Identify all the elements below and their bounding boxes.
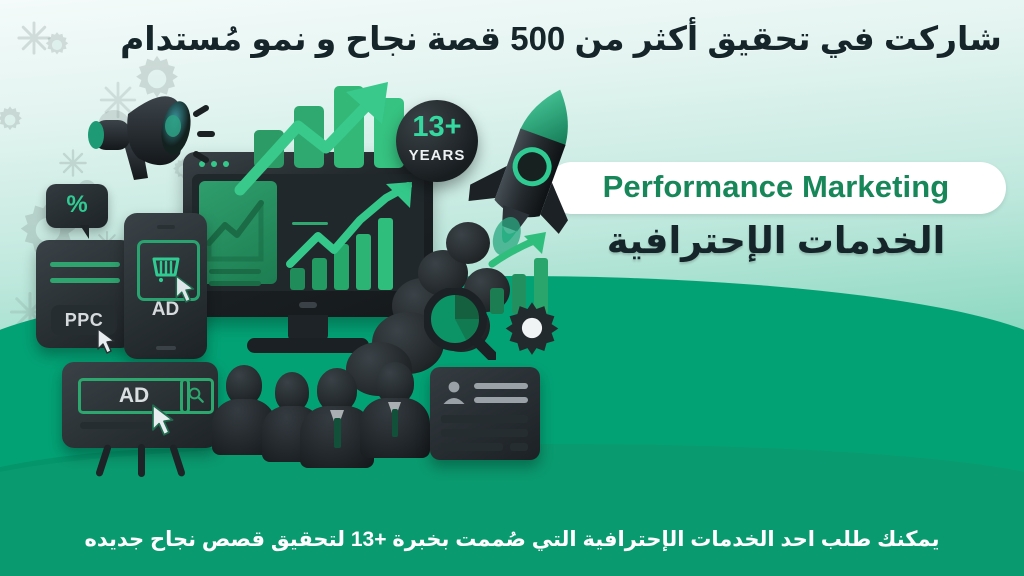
cursor-pointer-icon <box>174 275 198 303</box>
ppc-line <box>50 262 120 267</box>
arabic-subtitle: الخدمات الإحترافية <box>546 220 1006 263</box>
smoke-puff <box>446 222 490 264</box>
card-line <box>510 443 528 451</box>
megaphone-icon <box>88 82 220 194</box>
decorative-star-icon <box>16 20 52 56</box>
ppc-card[interactable]: PPC <box>36 240 134 348</box>
easel-leg <box>138 444 145 477</box>
performance-marketing-pill: Performance Marketing <box>546 162 1006 214</box>
card-line <box>441 415 528 423</box>
easel-leg <box>169 444 186 478</box>
avatar-icon <box>441 379 467 405</box>
years-badge: 13+ YEARS <box>396 100 478 182</box>
search-box <box>180 378 214 414</box>
monitor-stand-base <box>247 338 369 353</box>
marketing-banner: شاركت في تحقيق أكثر من 500 قصة نجاح و نم… <box>0 0 1024 576</box>
right-text-block: Performance Marketing الخدمات الإحترافية <box>546 162 1006 263</box>
board-panel: AD <box>62 362 218 448</box>
card-line <box>441 443 503 451</box>
easel-leg <box>95 444 112 478</box>
page-title: شاركت في تحقيق أكثر من 500 قصة نجاح و نم… <box>120 18 1002 59</box>
cursor-pointer-icon <box>96 328 118 354</box>
search-icon <box>187 386 205 404</box>
decorative-gear-icon <box>40 28 74 62</box>
monitor-power-button <box>299 302 317 308</box>
tablet-home-button <box>156 346 176 350</box>
tablet-camera <box>157 225 175 229</box>
bubble-tail <box>80 225 89 239</box>
decorative-gear-icon <box>0 102 28 138</box>
percent-symbol: % <box>46 191 108 219</box>
gear-icon <box>504 300 560 356</box>
bottom-caption: يمكنك طلب احد الخدمات الإحترافية التي صُ… <box>0 527 1024 552</box>
card-line <box>441 429 528 437</box>
ppc-line <box>50 278 120 283</box>
decorative-star-icon <box>58 148 88 178</box>
badge-number: 13+ <box>396 113 478 142</box>
badge-unit: YEARS <box>396 147 478 164</box>
cursor-pointer-icon <box>150 404 178 436</box>
ad-display-board[interactable]: AD <box>62 362 218 478</box>
profile-card-icon <box>430 367 540 460</box>
ad-tablet[interactable]: AD <box>124 213 207 359</box>
card-line <box>474 397 528 403</box>
card-line <box>474 383 528 389</box>
magnifier-pie-chart-icon <box>424 288 496 360</box>
